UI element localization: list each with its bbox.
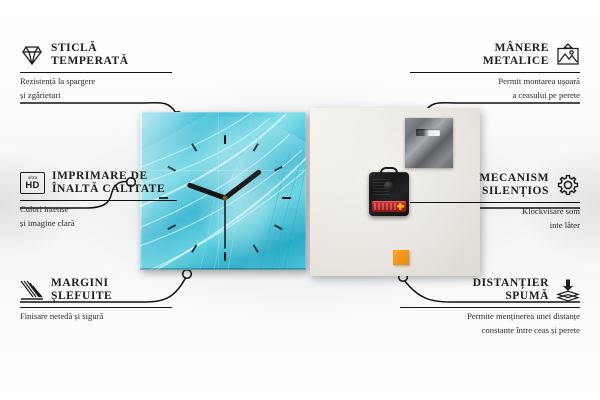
infographic-canvas: STICLĂ TEMPERATĂ Rezistență la spargere … [0, 0, 600, 400]
press-down-pad-icon [556, 278, 580, 302]
battery-plus-terminal [396, 202, 404, 211]
callout-rule [20, 72, 172, 73]
callout-title-line1: MARGINI [51, 277, 112, 290]
quartz-clock-mechanism [369, 172, 409, 216]
callout-title-line1: IMPRIMARE DE [52, 170, 165, 183]
mechanism-shaft [384, 181, 393, 190]
callout-rule [410, 202, 580, 203]
glass-edge-bottom [140, 268, 306, 270]
callout-distantier-spuma: DISTANȚIER SPUMĂ Permite menținerea unei… [400, 277, 580, 335]
hatched-edge-icon [20, 278, 44, 302]
hanger-slot [416, 129, 440, 136]
callout-subtitle-line1: Klockvisare som [410, 206, 580, 217]
callout-subtitle-line2: a ceasului pe perete [410, 90, 580, 101]
callout-subtitle-line1: Finisare netedă și sigură [20, 311, 195, 322]
battery-label [374, 203, 398, 210]
callout-subtitle-line2: și zgârieturi [20, 90, 190, 101]
callout-title-line1: STICLĂ [51, 42, 129, 55]
callout-mecanism-silentios: MECANISM SILENȚIOS Klockvisare som inte … [410, 172, 580, 230]
gear-icon [556, 173, 580, 197]
metal-hanger-plate [405, 118, 453, 168]
ultra-hd-icon: ultra HD [20, 172, 45, 194]
orange-foam-spacer [393, 250, 409, 265]
callout-title-line2: TEMPERATĂ [51, 55, 129, 68]
callout-rule [410, 72, 580, 73]
callout-title-line2: SPUMĂ [473, 290, 549, 303]
hanging-picture-icon [556, 43, 580, 67]
callout-subtitle-line2: constante între ceas și perete [400, 325, 580, 336]
callout-title-line2: SILENȚIOS [479, 185, 549, 198]
callout-sticla-temperata: STICLĂ TEMPERATĂ Rezistență la spargere … [20, 42, 190, 100]
ultra-hd-large-text: HD [25, 181, 39, 191]
callout-subtitle-line1: Rezistență la spargere [20, 76, 190, 87]
callout-title-line1: DISTANȚIER [473, 277, 549, 290]
callout-imprimare-inalta-calitate: ultra HD IMPRIMARE DE ÎNALTĂ CALITATE Cu… [20, 170, 200, 228]
mechanism-hook [380, 167, 398, 176]
callout-title-line1: MÂNERE [483, 42, 549, 55]
callout-title-line2: METALICE [483, 55, 549, 68]
callout-rule [20, 307, 172, 308]
callout-subtitle-line2: inte låter [410, 220, 580, 231]
callout-rule [400, 307, 580, 308]
callout-title-line2: ȘLEFUITE [51, 290, 112, 303]
callout-title-line2: ÎNALTĂ CALITATE [52, 183, 165, 196]
callout-subtitle-line1: Permit montarea ușoară [410, 76, 580, 87]
callout-subtitle-line1: Culori intense [20, 204, 200, 215]
diamond-icon [20, 43, 44, 67]
callout-title-line1: MECANISM [479, 172, 549, 185]
aa-battery [372, 201, 406, 212]
callout-margini-slefuite: MARGINI ȘLEFUITE Finisare netedă și sigu… [20, 277, 195, 322]
callout-subtitle-line1: Permite menținerea unei distanțe [400, 311, 580, 322]
callout-rule [20, 200, 177, 201]
callout-subtitle-line2: și imagine clară [20, 218, 200, 229]
callout-manere-metalice: MÂNERE METALICE Permit montarea ușoară a… [410, 42, 580, 100]
